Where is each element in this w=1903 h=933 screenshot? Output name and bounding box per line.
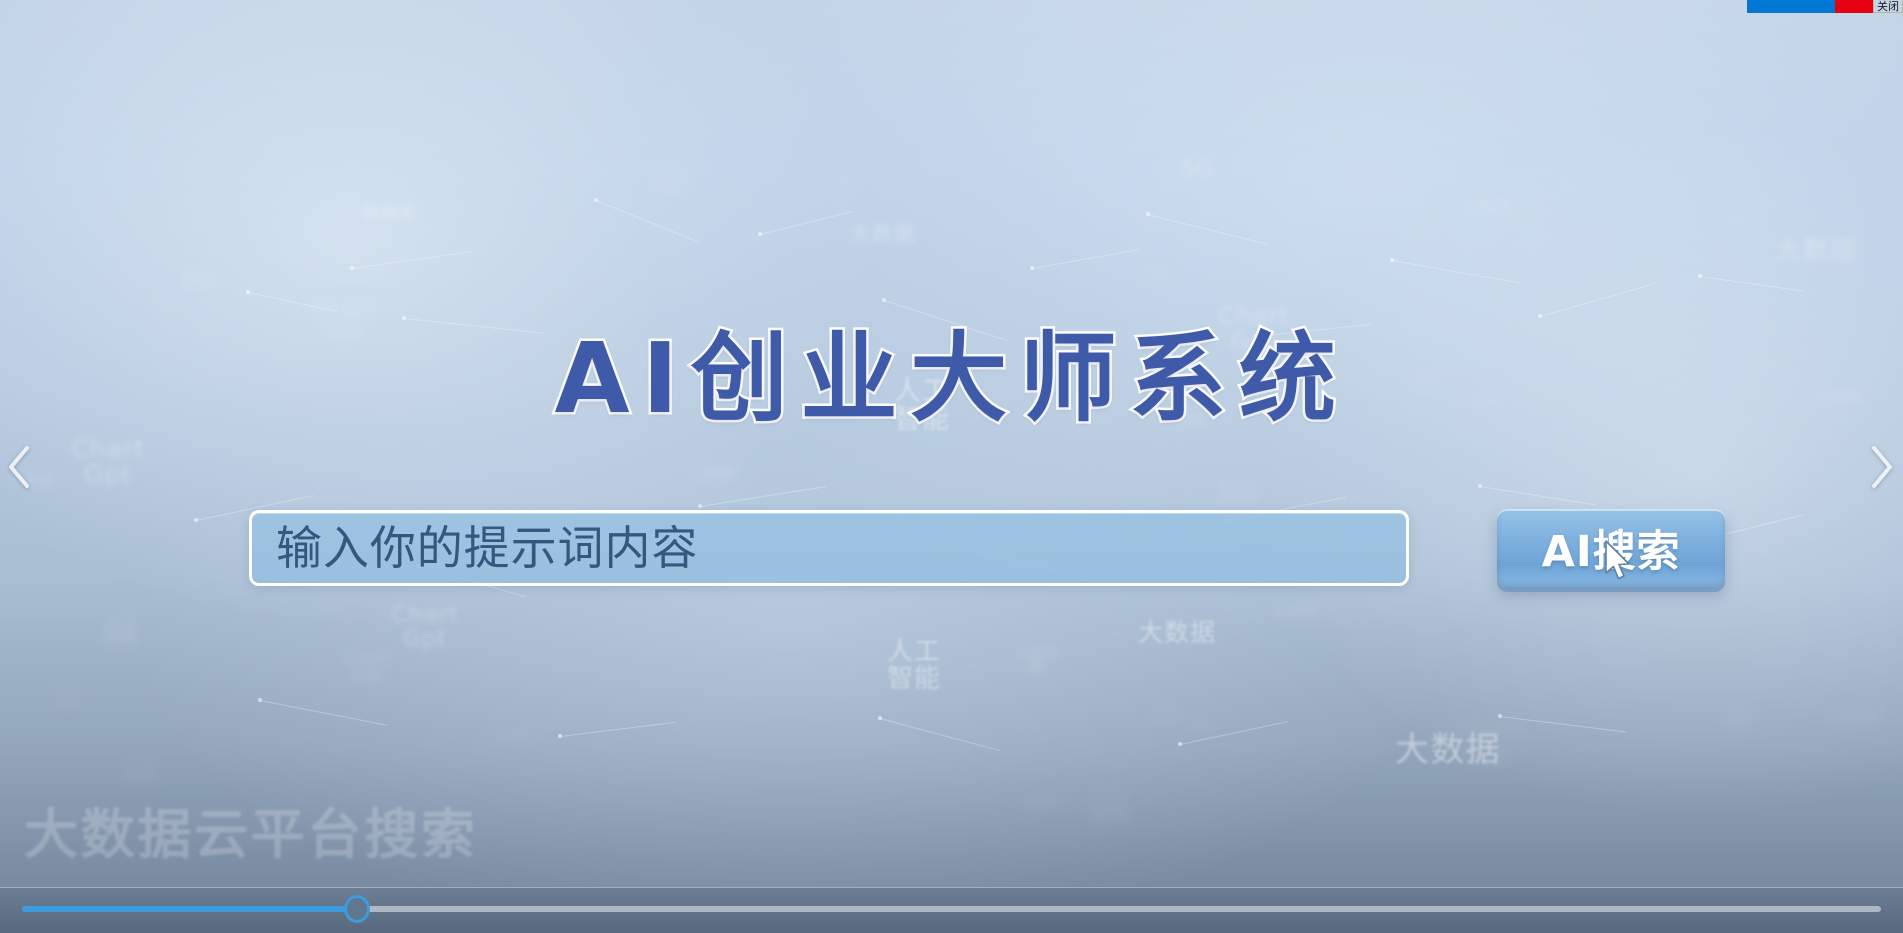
hexagon-icon (560, 150, 614, 198)
hexagon-icon (1172, 696, 1236, 756)
hex-tag-label: 互联网 (1269, 606, 1325, 621)
hex-connector-node (1538, 314, 1542, 318)
chevron-right-icon (1869, 444, 1895, 490)
hex-connector-node (758, 232, 762, 236)
hex-tag: Chart Gpt (1282, 232, 1340, 288)
hexagon-icon (1006, 640, 1068, 698)
hexagon-icon (1712, 190, 1774, 248)
close-tooltip: 关闭 (1873, 0, 1903, 13)
hex-connector-line (1148, 214, 1269, 245)
prompt-input-placeholder: 输入你的提示词内容 (276, 525, 698, 571)
hex-tag: 数据库 (330, 163, 448, 267)
hex-connector-node (1178, 742, 1182, 746)
hex-tag: 5G (1160, 134, 1234, 204)
hex-tag-label: Chart Gpt (338, 651, 397, 685)
hex-connector-node (1498, 714, 1502, 718)
hex-tag: 大数据 (183, 186, 235, 232)
hex-connector-node (258, 698, 262, 702)
hex-tag-label: 人工 智能 (1716, 700, 1759, 732)
hex-connector-line (596, 200, 698, 242)
hex-connector-line (1180, 721, 1288, 745)
hex-tag: Chart Gpt (333, 634, 403, 702)
hexagon-icon (1080, 236, 1136, 288)
hex-connector-node (1390, 258, 1394, 262)
hex-tag-label: 数据库 (491, 730, 540, 743)
hexagon-icon (1200, 218, 1252, 266)
hexagon-icon (855, 610, 973, 722)
hex-tag-label: Chart Gpt (642, 165, 698, 197)
hex-tag-label: 人工 智能 (118, 752, 165, 788)
hex-tag: 大数据 (1450, 172, 1526, 242)
hex-connector-node (882, 298, 886, 302)
taskbar-strip: 关闭 (1747, 0, 1903, 13)
hexagon-icon (1140, 690, 1198, 744)
hex-connector-line (248, 292, 338, 312)
hex-tag: 5G (1080, 236, 1136, 288)
hexagon-icon (155, 243, 241, 319)
hexagon-icon (1128, 248, 1186, 304)
hexagon-icon (1756, 196, 1876, 308)
chevron-left-icon (6, 444, 32, 490)
hex-tag: 人工 智能 (1700, 680, 1776, 752)
hexagon-icon (1282, 232, 1340, 288)
hex-tag: 大数据 (1118, 578, 1236, 688)
hex-tag-label: 大数据 (1389, 733, 1507, 769)
hex-tag: 大数据 (1756, 196, 1876, 308)
hexagon-icon (40, 672, 96, 726)
hex-connector-line (880, 718, 1000, 751)
hex-tag-label: 大数据 (1819, 709, 1887, 728)
hex-connector-line (1500, 716, 1627, 733)
hex-connector-line (1032, 249, 1139, 269)
hexagon-icon (820, 156, 874, 206)
hex-tag-label: 人工 智能 (1083, 783, 1137, 825)
hex-tag: 人工 智能 (855, 610, 973, 722)
hex-tag: 数据库 (1140, 690, 1198, 744)
hex-tag-label: 5G (174, 268, 222, 293)
hex-tag: 人工 智能 (1060, 756, 1160, 852)
hex-tag-label: 5G (1210, 235, 1241, 249)
hex-connector-node (1478, 484, 1482, 488)
hex-tag-label: 数据库 (1146, 711, 1192, 723)
hexagon-icon (330, 163, 448, 267)
page-title: AI创业大师系统 (0, 330, 1903, 427)
hexagon-icon (674, 438, 752, 510)
search-row: 输入你的提示词内容 AI搜索 (249, 507, 1729, 589)
hex-connector-node (594, 198, 598, 202)
progress-slider-fill (22, 906, 357, 912)
hex-tag-label: 人工 智能 (881, 639, 947, 694)
hexagon-icon (830, 186, 936, 282)
hex-tag: 数据库 (560, 150, 614, 198)
hexagon-icon (1434, 690, 1544, 794)
hex-connector-line (1540, 283, 1656, 317)
app-root: 数据库大数据5GChart GptChart Gpt大数据Chart Gpt人工… (0, 0, 1903, 933)
hex-tag: 人工 智能 (820, 156, 874, 206)
hex-tag-label: 数据库 (356, 206, 421, 224)
hexagon-icon (1010, 772, 1078, 836)
hex-tag: 大数据 (1808, 676, 1898, 760)
hexagon-icon (634, 146, 706, 216)
hex-tag-label: 5G (1185, 717, 1224, 736)
taskbar-blue-segment[interactable] (1747, 0, 1835, 13)
hex-tag-label: Chart Gpt (65, 436, 151, 489)
hex-tag-label: 数据库 (1718, 213, 1767, 226)
hex-tag: Chart Gpt (377, 580, 473, 674)
hex-connector-node (558, 734, 562, 738)
hex-tag: 大数据 (1368, 676, 1528, 826)
hex-connector-node (1030, 266, 1034, 270)
hex-tag-label: 互联网 (1010, 647, 1066, 662)
hex-connector-node (1698, 274, 1702, 278)
hexagon-icon (1060, 756, 1160, 852)
hex-connector-node (350, 266, 354, 270)
hex-connector-line (1700, 276, 1803, 291)
hexagon-icon (1368, 676, 1528, 826)
hex-tag: Chart Gpt (1434, 690, 1544, 794)
hex-tag-label: 人工 智能 (831, 171, 864, 192)
background-glow-d (1250, 120, 1903, 820)
hex-connector-line (700, 486, 827, 507)
hex-tag-label: 大数据 (684, 466, 743, 482)
hex-tag: 数据库 (486, 708, 546, 764)
hex-tag-label: 大数据 (1270, 205, 1319, 218)
hex-tag: 互联网 (1262, 580, 1332, 646)
hex-tag-label: 大数据 (844, 223, 922, 245)
hexagon-icon (333, 634, 403, 702)
hex-tag: 大数据 (674, 438, 752, 510)
hex-tag-label: Chart Gpt (1448, 717, 1531, 767)
hex-tag-label: 5G (1092, 255, 1125, 270)
hex-tag: 互联网 (1002, 620, 1074, 688)
hex-tag: 数据库 (1712, 190, 1774, 248)
progress-slider-handle[interactable] (344, 895, 370, 923)
hex-tag: 人工 智能 (78, 588, 164, 670)
hex-connector-line (260, 700, 388, 726)
hex-tag-label: 互联网 (1018, 797, 1071, 811)
hexagon-icon (1700, 680, 1776, 752)
hex-tag: Chart Gpt (40, 672, 96, 726)
hex-connector-node (878, 716, 882, 720)
hex-tag: 5G (1172, 696, 1236, 756)
hexagon-icon (486, 708, 546, 764)
hex-tag-label: 人工 智能 (97, 611, 144, 647)
hexagon-icon (78, 588, 164, 670)
hexagon-icon (1118, 578, 1236, 688)
carousel-next-button[interactable] (1859, 429, 1903, 505)
close-button-red[interactable] (1835, 0, 1873, 13)
prompt-input[interactable]: 输入你的提示词内容 (249, 510, 1409, 586)
hex-tag-label: 大数据 (1769, 238, 1862, 265)
hex-tag-label: 大数据 (1132, 620, 1222, 646)
background-watermark-text: 大数据云平台搜索 (24, 790, 478, 869)
hex-connector-line (760, 211, 853, 235)
hexagon-icon (1002, 620, 1074, 688)
hex-tag-label: 数据库 (565, 169, 608, 180)
hex-connector-line (560, 722, 675, 737)
hexagon-icon (1450, 172, 1526, 242)
hexagon-icon (1808, 676, 1898, 760)
hexagon-icon (1264, 182, 1326, 240)
hex-tag-label: Chart Gpt (385, 603, 465, 651)
hex-connector-line (1392, 260, 1522, 284)
hexagon-icon (1262, 580, 1332, 646)
hex-connector-node (194, 518, 198, 522)
carousel-prev-button[interactable] (0, 429, 42, 505)
hex-tag-label: 5G (1212, 480, 1264, 508)
ai-search-button[interactable]: AI搜索 (1497, 509, 1725, 587)
progress-slider[interactable] (22, 906, 1881, 912)
hex-connector-node (402, 316, 406, 320)
hexagon-icon (377, 580, 473, 674)
hex-tag-label: 大数据 (189, 204, 229, 213)
hex-tag: 数 (1006, 640, 1068, 698)
hex-tag: 5G (1200, 218, 1252, 266)
hex-tag: 大数据 (830, 186, 936, 282)
hex-tag-label: 数 (1022, 660, 1052, 678)
hexagon-icon (183, 186, 235, 232)
hex-connector-node (1146, 212, 1150, 216)
hex-tag-label: 大数据 (1459, 199, 1518, 215)
hex-tag: Chart Gpt (1128, 248, 1186, 304)
hex-tag: 5G (155, 243, 241, 319)
hex-tag-label: Chart Gpt (1289, 248, 1333, 271)
hex-tag: 互联网 (1010, 772, 1078, 836)
hex-tag-label: Chart Gpt (46, 687, 90, 710)
hexagon-icon (1160, 134, 1234, 204)
hex-tag-label: 5G (1174, 157, 1220, 181)
player-bar (0, 887, 1903, 933)
hex-tag-label: Chart Gpt (1135, 264, 1179, 287)
hex-tag: 大数据 (1264, 182, 1326, 240)
hex-connector-node (246, 290, 250, 294)
hex-tag: Chart Gpt (634, 146, 706, 216)
hex-connector-line (1480, 486, 1597, 505)
hex-connector-line (352, 251, 471, 269)
